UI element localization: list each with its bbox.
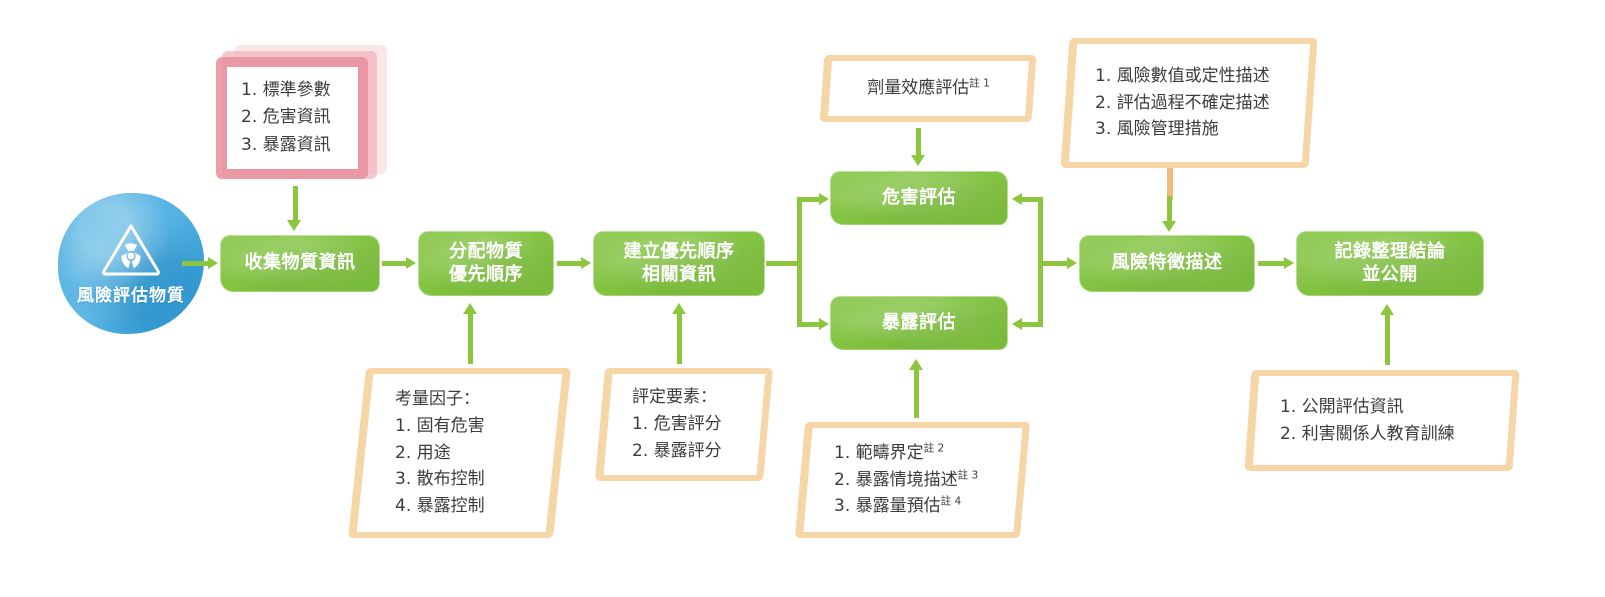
process-priority-label-line2: 相關資訊 xyxy=(642,264,716,287)
process-collect-label: 收集物質資訊 xyxy=(245,252,356,275)
risk-outputs-note-text: 1. 風險數值或定性描述 2. 評估過程不確定描述 3. 風險管理措施 xyxy=(1073,44,1306,162)
arrowhead-to-risk-char xyxy=(1067,257,1077,269)
arrowhead-to-hazard xyxy=(819,193,829,205)
disclosure-note: 1. 公開評估資訊 2. 利害關係人教育訓練 xyxy=(1248,370,1516,471)
process-hazard-assessment[interactable]: 危害評估 xyxy=(831,172,1007,224)
consider-factors-item-1: 1. 固有危害 xyxy=(395,413,554,440)
inputs-note-item-2: 2. 危害資訊 xyxy=(241,104,358,132)
exposure-steps-item-3-text: 3. 暴露量預估 xyxy=(834,496,941,516)
consider-factors-heading: 考量因子： xyxy=(395,386,554,413)
arrowhead-exposure-inbound xyxy=(1012,318,1022,330)
process-allocate-label-line2: 優先順序 xyxy=(449,264,523,287)
process-allocate-priority[interactable]: 分配物質 優先順序 xyxy=(419,232,553,295)
inputs-note-text: 1. 標準參數 2. 危害資訊 3. 暴露資訊 xyxy=(227,67,358,169)
exposure-steps-item-2-text: 2. 暴露情境描述 xyxy=(834,470,958,490)
rating-elements-item-1: 1. 危害評分 xyxy=(632,411,761,438)
consider-factors-item-3: 3. 散布控制 xyxy=(395,466,554,493)
process-hazard-label: 危害評估 xyxy=(882,187,956,210)
radiation-hazard-icon xyxy=(100,221,162,277)
consider-factors-note-text: 考量因子： 1. 固有危害 2. 用途 3. 散布控制 4. 暴露控制 xyxy=(365,374,554,532)
exposure-steps-item-2: 2. 暴露情境描述註 3 xyxy=(834,467,1018,494)
risk-outputs-item-2: 2. 評估過程不確定描述 xyxy=(1095,90,1306,117)
process-record-and-disclose[interactable]: 記錄整理結論 並公開 xyxy=(1297,232,1483,295)
process-record-label-line1: 記錄整理結論 xyxy=(1335,241,1446,264)
disclosure-note-text: 1. 公開評估資訊 2. 利害關係人教育訓練 xyxy=(1256,376,1509,465)
exposure-steps-item-2-footnote: 註 3 xyxy=(958,469,979,481)
rating-elements-note-text: 評定要素： 1. 危害評分 2. 暴露評分 xyxy=(608,374,761,475)
exposure-steps-item-3-footnote: 註 4 xyxy=(941,496,962,508)
risk-outputs-item-3: 3. 風險管理措施 xyxy=(1095,116,1306,143)
dose-response-note: 劑量效應評估註 1 xyxy=(822,55,1034,122)
process-risk-char-label: 風險特徵描述 xyxy=(1112,252,1223,275)
dose-response-note-line: 劑量效應評估註 1 xyxy=(867,75,990,102)
flowchart-canvas: 風險評估物質 1. 標準參數 2. 危害資訊 3. 暴露資訊 收集物質資訊 分配… xyxy=(0,0,1605,597)
disclosure-item-1: 1. 公開評估資訊 xyxy=(1280,394,1509,421)
process-risk-characterization[interactable]: 風險特徵描述 xyxy=(1080,236,1254,291)
rating-elements-note: 評定要素： 1. 危害評分 2. 暴露評分 xyxy=(600,368,768,481)
process-record-label-line2: 並公開 xyxy=(1362,264,1418,287)
process-establish-priority-info[interactable]: 建立優先順序 相關資訊 xyxy=(594,232,764,295)
process-priority-label-line1: 建立優先順序 xyxy=(624,241,735,264)
process-allocate-label-line1: 分配物質 xyxy=(449,241,523,264)
consider-factors-item-4: 4. 暴露控制 xyxy=(395,493,554,520)
dose-response-note-text: 劑量效應評估註 1 xyxy=(830,61,1027,116)
risk-outputs-note: 1. 風險數值或定性描述 2. 評估過程不確定描述 3. 風險管理措施 xyxy=(1065,38,1313,168)
dose-response-text: 劑量效應評估 xyxy=(867,78,969,98)
consider-factors-note: 考量因子： 1. 固有危害 2. 用途 3. 散布控制 4. 暴露控制 xyxy=(357,368,562,538)
start-node-label: 風險評估物質 xyxy=(77,281,185,306)
exposure-steps-item-3: 3. 暴露量預估註 4 xyxy=(834,493,1018,520)
inputs-note: 1. 標準參數 2. 危害資訊 3. 暴露資訊 xyxy=(212,45,387,180)
exposure-steps-item-1-footnote: 註 2 xyxy=(924,442,945,454)
arrowhead-to-exposure xyxy=(819,318,829,330)
consider-factors-item-2: 2. 用途 xyxy=(395,440,554,467)
disclosure-item-2: 2. 利害關係人教育訓練 xyxy=(1280,421,1509,448)
risk-outputs-item-1: 1. 風險數值或定性描述 xyxy=(1095,63,1306,90)
arrowhead-hazard-inbound xyxy=(1012,193,1022,205)
exposure-steps-note: 1. 範疇界定註 2 2. 暴露情境描述註 3 3. 暴露量預估註 4 xyxy=(800,422,1025,538)
dose-response-footnote: 註 1 xyxy=(969,77,990,89)
inputs-note-item-1: 1. 標準參數 xyxy=(241,77,358,105)
rating-elements-item-2: 2. 暴露評分 xyxy=(632,438,761,465)
exposure-steps-item-1: 1. 範疇界定註 2 xyxy=(834,440,1018,467)
process-exposure-label: 暴露評估 xyxy=(882,312,956,335)
process-exposure-assessment[interactable]: 暴露評估 xyxy=(831,297,1007,349)
inputs-note-item-3: 3. 暴露資訊 xyxy=(241,132,358,160)
rating-elements-heading: 評定要素： xyxy=(632,384,761,411)
process-collect-substance-info[interactable]: 收集物質資訊 xyxy=(221,236,379,291)
exposure-steps-item-1-text: 1. 範疇界定 xyxy=(834,443,924,463)
exposure-steps-note-text: 1. 範疇界定註 2 2. 暴露情境描述註 3 3. 暴露量預估註 4 xyxy=(808,428,1018,532)
